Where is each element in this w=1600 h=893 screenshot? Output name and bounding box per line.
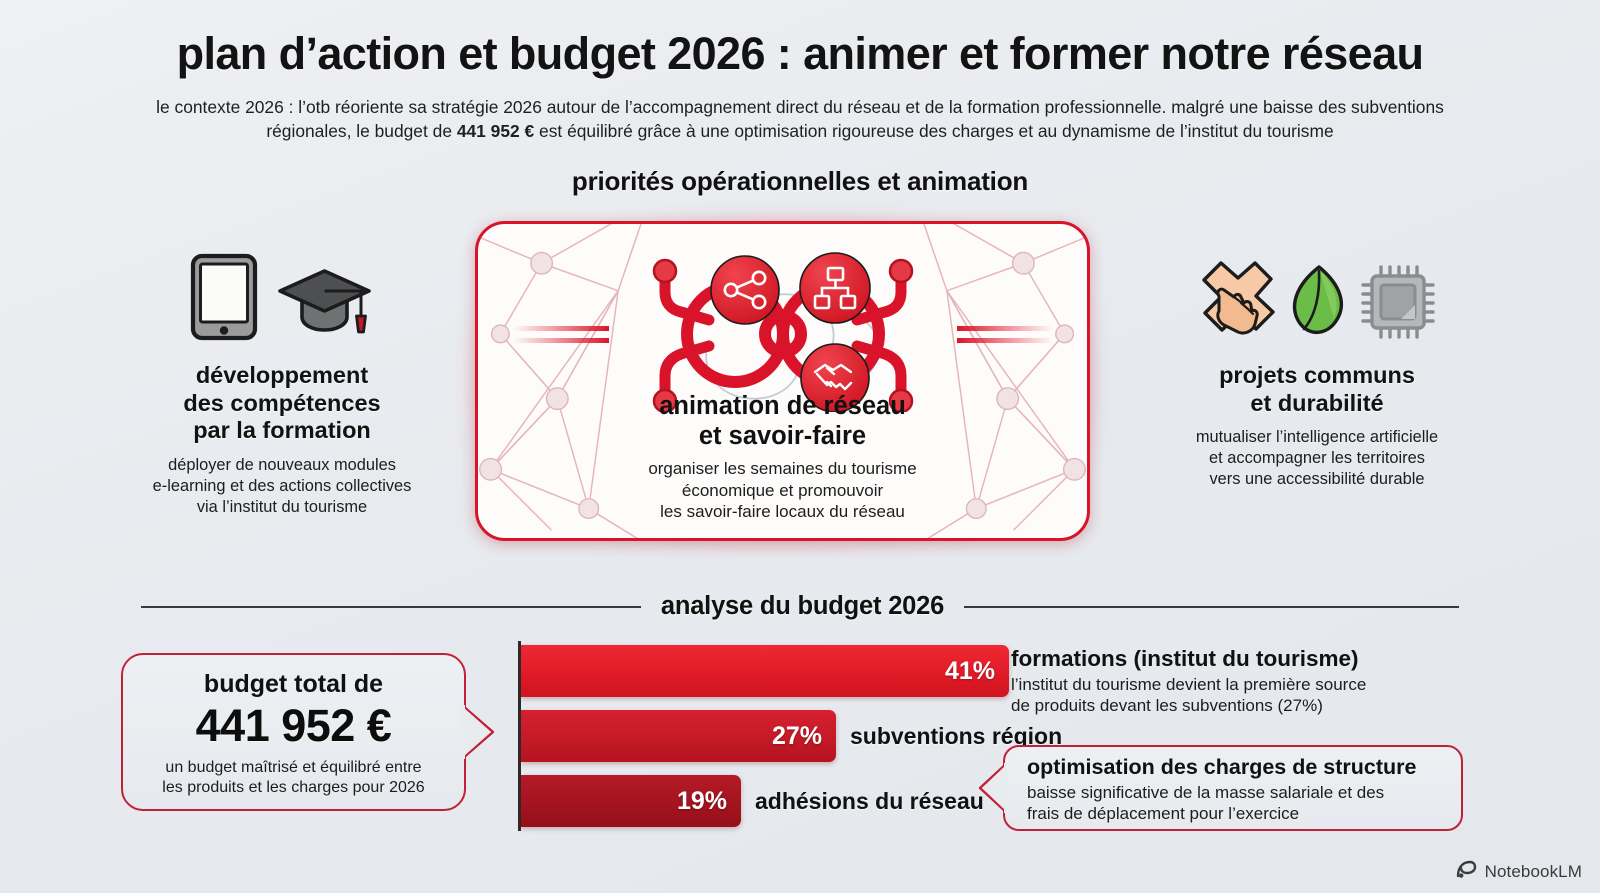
center-card-desc-line1: organiser les semaines du tourisme xyxy=(478,458,1087,479)
header: plan d’action et budget 2026 : animer et… xyxy=(0,30,1600,143)
infographic-root: plan d’action et budget 2026 : animer et… xyxy=(0,0,1600,893)
heading-rule-right xyxy=(964,606,1459,608)
optimisation-callout-line2: frais de déplacement pour l’exercice xyxy=(1027,803,1447,824)
optimisation-callout: optimisation des charges de structure ba… xyxy=(1003,745,1463,831)
column-left-description: déployer de nouveaux modules e-learning … xyxy=(117,455,447,518)
column-left-desc-line2: e-learning et des actions collectives xyxy=(117,476,447,497)
column-right-title-line1: projets communs xyxy=(1152,362,1482,390)
column-left-title-line2: des compétences xyxy=(117,390,447,418)
column-right-icons xyxy=(1152,250,1482,346)
budget-total-note: un budget maîtrisé et équilibré entre le… xyxy=(123,758,464,798)
column-left-desc-line3: via l’institut du tourisme xyxy=(117,497,447,518)
bar-value-subventions: 27% xyxy=(772,722,822,751)
budget-section-heading: analyse du budget 2026 xyxy=(661,592,944,621)
center-card-title: animation de réseau et savoir-faire xyxy=(478,392,1087,451)
column-left-title-line3: par la formation xyxy=(117,417,447,445)
share-nodes-icon xyxy=(711,256,779,324)
budget-total-label: budget total de xyxy=(123,671,464,699)
page-subtitle: le contexte 2026 : l’otb réoriente sa st… xyxy=(135,95,1465,143)
column-left-icons xyxy=(117,250,447,346)
annotation-formations-line1: l’institut du tourisme devient la premiè… xyxy=(1011,674,1451,695)
budget-total-callout: budget total de 441 952 € un budget maît… xyxy=(121,653,466,811)
column-right-title-line2: et durabilité xyxy=(1152,390,1482,418)
teamwork-hands-icon xyxy=(1197,259,1279,346)
center-section-heading: priorités opérationnelles et animation xyxy=(0,166,1600,197)
callout-pointer-right-icon xyxy=(462,704,495,760)
watermark-label: NotebookLM xyxy=(1485,862,1582,882)
center-card-container: animation de réseau et savoir-faire orga… xyxy=(475,221,1090,541)
budget-bar-chart: 41% 27% subventions région 19% adhésions… xyxy=(518,641,1018,831)
notebooklm-icon xyxy=(1456,860,1478,883)
center-card-desc-line3: les savoir-faire locaux du réseau xyxy=(478,501,1087,522)
subtitle-text-after: est équilibré grâce à une optimisation r… xyxy=(534,121,1333,141)
subtitle-budget-amount: 441 952 € xyxy=(457,121,534,141)
budget-total-note-line1: un budget maîtrisé et équilibré entre xyxy=(123,758,464,778)
graduation-cap-icon xyxy=(276,265,374,346)
annotation-formations-title: formations (institut du tourisme) xyxy=(1011,646,1451,671)
table-row: 27% subventions région xyxy=(521,710,1062,762)
optimisation-callout-body: baisse significative de la masse salaria… xyxy=(1027,782,1447,824)
microchip-icon xyxy=(1359,263,1437,346)
callout-pointer-left-icon xyxy=(978,763,1007,813)
network-hub-graphic xyxy=(513,252,1053,412)
column-left-desc-line1: déployer de nouveaux modules xyxy=(117,455,447,476)
bar-value-formations: 41% xyxy=(945,657,995,686)
org-chart-icon xyxy=(800,253,870,323)
leaf-icon xyxy=(1289,263,1349,346)
bar-formations: 41% xyxy=(521,645,1009,697)
tablet-icon xyxy=(190,253,258,346)
optimisation-callout-title: optimisation des charges de structure xyxy=(1027,756,1447,780)
bar-label-adhesions: adhésions du réseau xyxy=(755,788,984,815)
center-card-title-line2: et savoir-faire xyxy=(478,422,1087,452)
annotation-formations-body: l’institut du tourisme devient la premiè… xyxy=(1011,674,1451,716)
bar-subventions: 27% xyxy=(521,710,836,762)
page-title: plan d’action et budget 2026 : animer et… xyxy=(0,30,1600,79)
column-right-description: mutualiser l’intelligence artificielle e… xyxy=(1152,427,1482,490)
table-row: 19% adhésions du réseau xyxy=(521,775,984,827)
column-right-desc-line3: vers une accessibilité durable xyxy=(1152,469,1482,490)
column-right-desc-line2: et accompagner les territoires xyxy=(1152,448,1482,469)
optimisation-callout-line1: baisse significative de la masse salaria… xyxy=(1027,782,1447,803)
column-right: projets communs et durabilité mutualiser… xyxy=(1152,250,1482,490)
bar-value-adhesions: 19% xyxy=(677,787,727,816)
annotation-formations: formations (institut du tourisme) l’inst… xyxy=(1011,646,1451,716)
table-row: 41% xyxy=(521,645,1009,697)
bar-adhesions: 19% xyxy=(521,775,741,827)
column-left-title-line1: développement xyxy=(117,362,447,390)
budget-total-note-line2: les produits et les charges pour 2026 xyxy=(123,778,464,798)
column-left: développement des compétences par la for… xyxy=(117,250,447,518)
annotation-formations-line2: de produits devant les subventions (27%) xyxy=(1011,695,1451,716)
column-right-desc-line1: mutualiser l’intelligence artificielle xyxy=(1152,427,1482,448)
center-card: animation de réseau et savoir-faire orga… xyxy=(475,221,1090,541)
watermark: NotebookLM xyxy=(1456,860,1582,883)
column-right-title: projets communs et durabilité xyxy=(1152,362,1482,417)
center-card-description: organiser les semaines du tourisme écono… xyxy=(478,458,1087,522)
budget-total-amount: 441 952 € xyxy=(123,701,464,751)
budget-section-heading-row: analyse du budget 2026 xyxy=(0,592,1600,621)
center-card-text: animation de réseau et savoir-faire orga… xyxy=(478,392,1087,522)
center-card-desc-line2: économique et promouvoir xyxy=(478,480,1087,501)
heading-rule-left xyxy=(141,606,641,608)
center-card-title-line1: animation de réseau xyxy=(478,392,1087,422)
column-left-title: développement des compétences par la for… xyxy=(117,362,447,445)
